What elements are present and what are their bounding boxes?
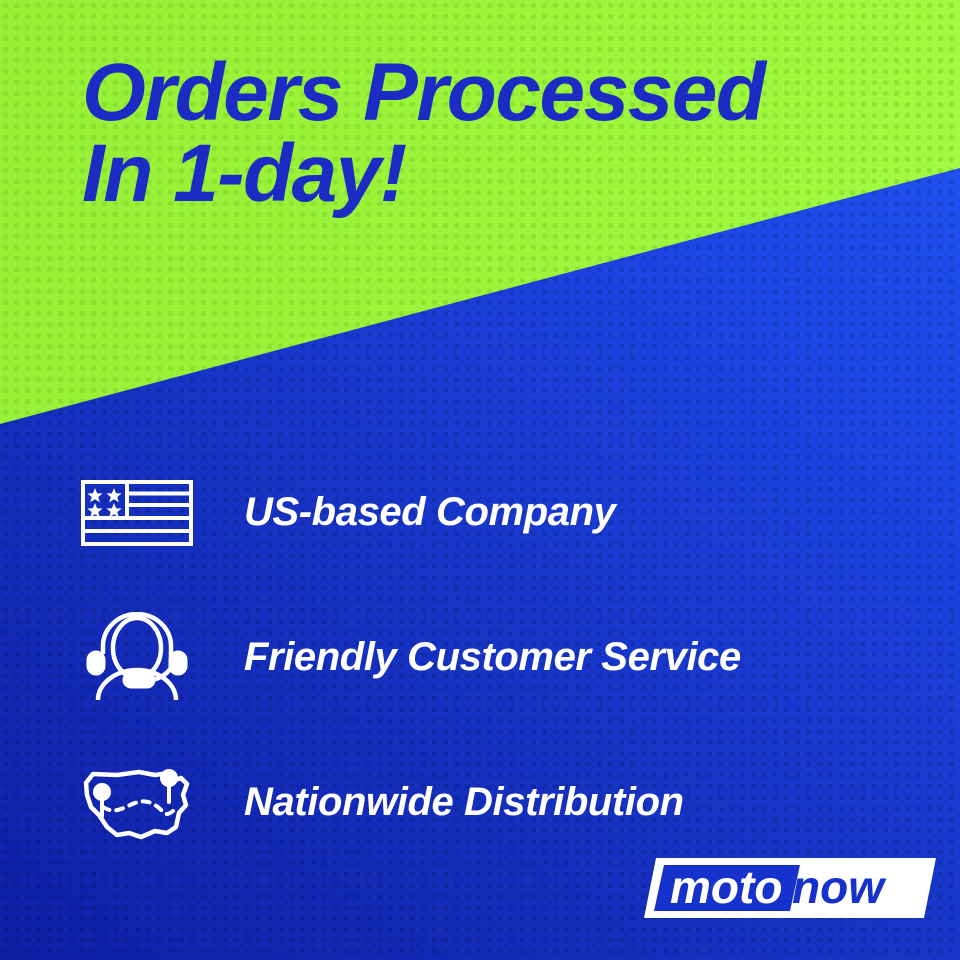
motonow-logo[interactable]: moto now bbox=[640, 854, 940, 922]
headline: Orders Processed In 1-day! bbox=[82, 52, 912, 214]
feature-label: US-based Company bbox=[244, 490, 615, 535]
feature-label: Friendly Customer Service bbox=[244, 635, 741, 680]
feature-list: US-based Company bbox=[74, 440, 934, 875]
logo-text-now: now bbox=[792, 861, 887, 913]
headset-icon bbox=[74, 612, 199, 704]
feature-item-us-based: US-based Company bbox=[74, 440, 934, 585]
promo-poster: Orders Processed In 1-day! bbox=[0, 0, 960, 960]
feature-label: Nationwide Distribution bbox=[244, 780, 684, 825]
us-flag-icon bbox=[74, 480, 199, 546]
logo-text-moto: moto bbox=[670, 861, 782, 913]
us-map-pins-icon bbox=[74, 761, 199, 845]
feature-item-customer-service: Friendly Customer Service bbox=[74, 585, 934, 730]
